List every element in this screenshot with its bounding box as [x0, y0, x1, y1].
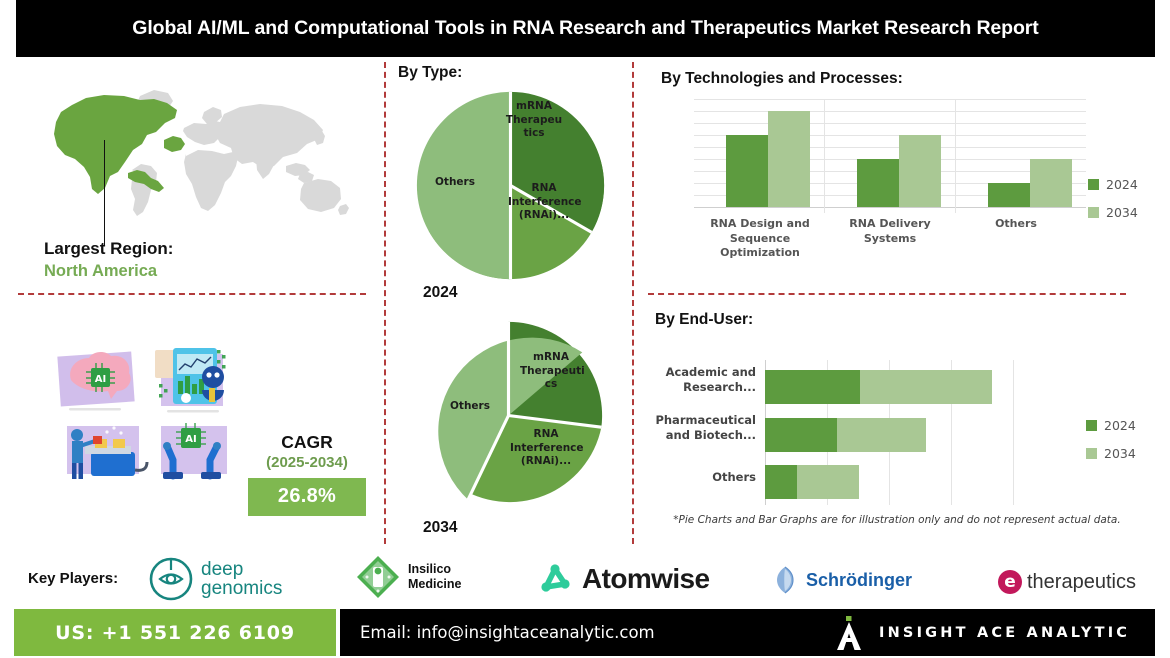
legend-label-2024: 2024	[1106, 177, 1138, 192]
stacked-bar-academic	[765, 370, 1025, 404]
largest-region-value: North America	[44, 260, 344, 282]
pie-2034-year: 2034	[423, 519, 457, 537]
pie-2024-label-mrna: mRNA Therapeu tics	[505, 100, 563, 141]
segment-2034-pharma	[837, 418, 926, 452]
category-separator	[955, 99, 956, 213]
gridline	[694, 123, 1086, 124]
page-title: Global AI/ML and Computational Tools in …	[132, 16, 1038, 41]
etherapeutics-mark: e	[998, 570, 1022, 594]
logo-e-therapeutics: e therapeutics	[998, 570, 1136, 594]
bar-2034-others	[1030, 159, 1072, 207]
logo-deep-genomics: deep genomics	[148, 556, 282, 602]
pie-2034-label-others: Others	[440, 400, 500, 414]
enduser-label-others: Others	[648, 470, 756, 485]
logo-insilico-medicine: Insilico Medicine	[356, 555, 462, 599]
key-players-label: Key Players:	[28, 570, 118, 587]
legend-swatch-2034	[1088, 207, 1099, 218]
svg-text:AI: AI	[95, 374, 106, 385]
atomwise-mark	[537, 560, 574, 597]
segment-2024-academic	[765, 370, 860, 404]
legend-label-2034: 2034	[1104, 446, 1136, 461]
deep-genomics-line1: deep	[201, 560, 282, 579]
category-separator	[824, 99, 825, 213]
horizontal-divider-left	[18, 293, 366, 295]
category-label-rna-design: RNA Design and Sequence Optimization	[696, 217, 824, 261]
technologies-bar-chart	[694, 99, 1086, 207]
svg-text:AI: AI	[185, 434, 196, 445]
insilico-line2: Medicine	[408, 577, 462, 592]
enduser-label-academic: Academic and Research...	[648, 365, 756, 395]
phone-bar[interactable]: US: +1 551 226 6109	[14, 609, 336, 656]
legend-item-2034: 2034	[1088, 205, 1138, 220]
footer-bar: Email: info@insightaceanalytic.com INSIG…	[340, 609, 1155, 656]
stacked-bar-others	[765, 465, 1025, 499]
enduser-legend: 2024 2034	[1086, 418, 1136, 474]
enduser-label-pharma: Pharmaceutical and Biotech...	[648, 413, 756, 443]
category-label-others: Others	[958, 217, 1074, 232]
gridline	[694, 99, 1086, 100]
email-address[interactable]: Email: info@insightaceanalytic.com	[360, 623, 655, 642]
vertical-divider-left	[384, 62, 386, 544]
cagr-years: (2025-2034)	[248, 453, 366, 473]
by-enduser-title: By End-User:	[655, 311, 753, 329]
chart-disclaimer: *Pie Charts and Bar Graphs are for illus…	[672, 514, 1122, 526]
largest-region-label: Largest Region:	[44, 238, 344, 260]
segment-2034-academic	[860, 370, 992, 404]
segment-2034-others	[797, 465, 859, 499]
cagr-title: CAGR	[248, 432, 366, 453]
category-label-rna-delivery: RNA Delivery Systems	[828, 217, 952, 246]
ai-illustration: AI	[55, 340, 250, 505]
segment-2024-pharma	[765, 418, 837, 452]
deep-genomics-mark	[148, 556, 194, 602]
bar-2024-others	[988, 183, 1030, 207]
legend-swatch-2024	[1088, 179, 1099, 190]
legend-item-2024: 2024	[1088, 177, 1138, 192]
pie-chart-2034	[411, 318, 606, 513]
legend-label-2024: 2024	[1104, 418, 1136, 433]
stacked-bar-pharma	[765, 418, 1025, 452]
cagr-value: 26.8%	[248, 478, 366, 516]
world-map-icon	[28, 78, 358, 233]
map-leader-line	[104, 140, 105, 245]
logo-atomwise: Atomwise	[537, 560, 709, 597]
legend-label-2034: 2034	[1106, 205, 1138, 220]
largest-region-block: Largest Region: North America	[44, 238, 344, 282]
bar-2024-rna-design	[726, 135, 768, 207]
segment-2024-others	[765, 465, 797, 499]
pie-2024-label-others: Others	[425, 176, 485, 190]
schrodinger-wordmark: Schrödinger	[806, 570, 912, 591]
report-header: Global AI/ML and Computational Tools in …	[16, 0, 1155, 57]
atomwise-wordmark: Atomwise	[582, 563, 709, 595]
pie-2034-label-mrna: mRNA Therapeuti cs	[520, 351, 582, 392]
pie-2034-label-rnai: RNA Interference (RNAi)...	[510, 428, 582, 469]
brand-block: INSIGHT ACE ANALYTIC	[835, 616, 1130, 650]
insilico-line1: Insilico	[408, 562, 462, 577]
etherapeutics-wordmark: therapeutics	[1027, 571, 1136, 594]
legend-item-2024: 2024	[1086, 418, 1136, 433]
bar-2034-rna-design	[768, 111, 810, 207]
legend-swatch-2034	[1086, 448, 1097, 459]
by-technologies-title: By Technologies and Processes:	[661, 70, 903, 88]
insight-ace-logo-icon	[835, 616, 863, 650]
pie-2024-label-rnai: RNA Interference (RNAi)...	[508, 182, 580, 223]
cagr-block: CAGR (2025-2034) 26.8%	[248, 432, 366, 516]
legend-item-2034: 2034	[1086, 446, 1136, 461]
technologies-legend: 2024 2034	[1088, 177, 1138, 233]
bar-2034-rna-delivery	[899, 135, 941, 207]
enduser-bar-chart	[765, 360, 1025, 505]
bar-2024-rna-delivery	[857, 159, 899, 207]
logo-schrodinger: Schrödinger	[771, 566, 912, 594]
brand-name: INSIGHT ACE ANALYTIC	[879, 625, 1130, 641]
deep-genomics-line2: genomics	[201, 579, 282, 598]
axis-line	[694, 207, 1086, 208]
gridline	[694, 111, 1086, 112]
insilico-medicine-mark	[356, 555, 400, 599]
schrodinger-mark	[771, 566, 799, 594]
infographic-page: Global AI/ML and Computational Tools in …	[0, 0, 1170, 658]
legend-swatch-2024	[1086, 420, 1097, 431]
horizontal-divider-right	[648, 293, 1126, 295]
vertical-divider-right	[632, 62, 634, 544]
pie-2024-year: 2024	[423, 284, 457, 302]
phone-number: US: +1 551 226 6109	[55, 622, 295, 644]
by-type-title: By Type:	[398, 64, 462, 82]
